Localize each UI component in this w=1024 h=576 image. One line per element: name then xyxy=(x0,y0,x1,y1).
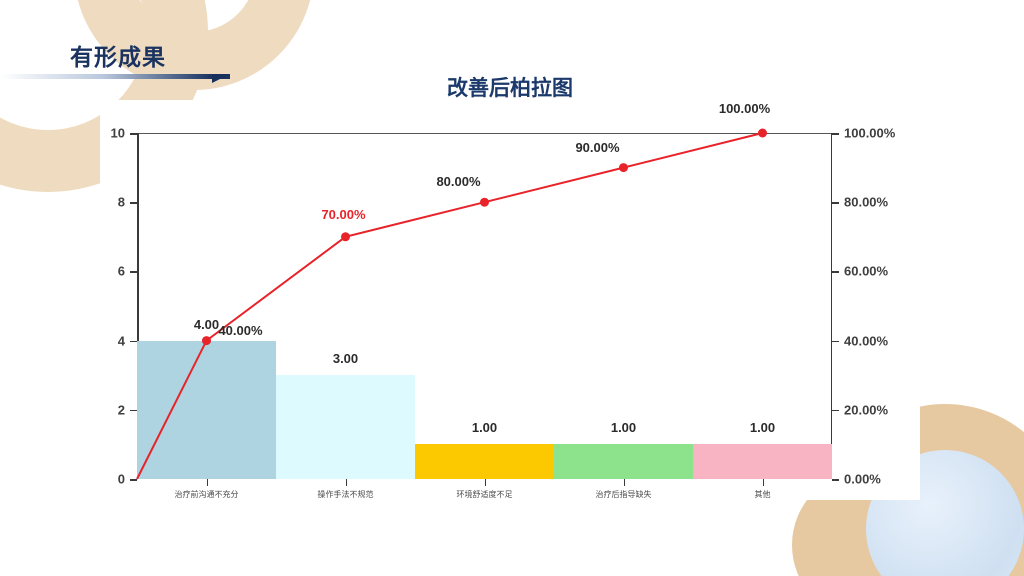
cumulative-percent-label: 90.00% xyxy=(575,140,619,155)
y-axis-left-tick xyxy=(130,479,137,481)
y-axis-right-tick-label: 0.00% xyxy=(844,472,881,487)
y-axis-right-tick xyxy=(832,479,839,481)
x-axis-category-label: 环境舒适度不足 xyxy=(457,489,513,500)
cumulative-point-2 xyxy=(341,232,350,241)
pareto-chart-card: 改善后柏拉图 0246810 0.00%20.00%40.00%60.00%80… xyxy=(100,100,920,500)
cumulative-percent-label: 80.00% xyxy=(436,174,480,189)
y-axis-right-tick-label: 40.00% xyxy=(844,333,888,348)
x-axis-category-label: 治疗后指导缺失 xyxy=(596,489,652,500)
y-axis-left-tick-label: 2 xyxy=(118,402,125,417)
x-axis-tick xyxy=(485,479,487,486)
y-axis-right-tick-label: 100.00% xyxy=(844,126,895,141)
chart-title: 改善后柏拉图 xyxy=(100,72,920,102)
y-axis-right-tick xyxy=(832,202,839,204)
x-axis-tick xyxy=(346,479,348,486)
cumulative-point-4 xyxy=(619,163,628,172)
y-axis-left-tick-label: 10 xyxy=(111,126,125,141)
y-axis-left-tick xyxy=(130,133,137,135)
x-axis-category-label: 操作手法不规范 xyxy=(318,489,374,500)
cumulative-point-5 xyxy=(758,129,767,138)
y-axis-left-tick xyxy=(130,410,137,412)
y-axis-right-tick xyxy=(832,410,839,412)
x-axis-tick xyxy=(624,479,626,486)
y-axis-right-tick-label: 20.00% xyxy=(844,402,888,417)
cumulative-percent-label: 100.00% xyxy=(719,101,770,116)
y-axis-left-tick-label: 4 xyxy=(118,333,125,348)
cumulative-point-1 xyxy=(202,336,211,345)
x-axis-tick xyxy=(763,479,765,486)
y-axis-right-tick-label: 80.00% xyxy=(844,195,888,210)
cumulative-percent-label: 70.00% xyxy=(321,207,365,222)
x-axis-category-label: 治疗前沟通不充分 xyxy=(175,489,239,500)
chart-plot-area: 0246810 0.00%20.00%40.00%60.00%80.00%100… xyxy=(137,133,832,479)
x-axis-tick xyxy=(207,479,209,486)
y-axis-left-tick-label: 8 xyxy=(118,195,125,210)
y-axis-right-tick xyxy=(832,341,839,343)
y-axis-left-tick-label: 6 xyxy=(118,264,125,279)
slide-canvas: 有形成果 改善后柏拉图 0246810 0.00%20.00%40.00%60.… xyxy=(0,0,1024,576)
slide-title-block: 有形成果 xyxy=(0,18,1024,70)
cumulative-point-3 xyxy=(480,198,489,207)
y-axis-left-tick xyxy=(130,202,137,204)
cumulative-percent-label: 40.00% xyxy=(218,323,262,338)
cumulative-line xyxy=(137,133,832,479)
page-title: 有形成果 xyxy=(70,38,166,72)
y-axis-right-tick xyxy=(832,133,839,135)
y-axis-right-tick-label: 60.00% xyxy=(844,264,888,279)
x-axis-category-label: 其他 xyxy=(755,489,771,500)
y-axis-left-tick xyxy=(130,271,137,273)
y-axis-left-tick xyxy=(130,341,137,343)
y-axis-right-tick xyxy=(832,271,839,273)
y-axis-left-tick-label: 0 xyxy=(118,472,125,487)
